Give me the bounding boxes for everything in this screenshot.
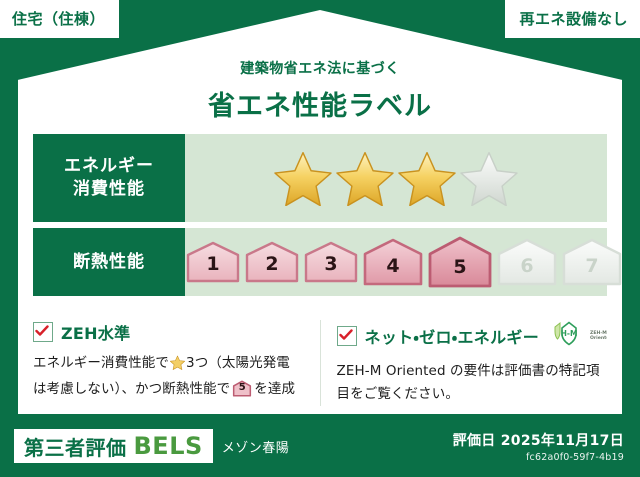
info-nze-body: ZEH-M Oriented の要件は評価書の特記項目をご覧ください。 [337, 360, 607, 406]
row-energy-consumption: エネルギー 消費性能 [33, 134, 607, 222]
star-rating [185, 134, 607, 222]
info-zeh-standard: ZEH水準 エネルギー消費性能で3つ（太陽光発電 は考慮しない）、かつ断熱性能で… [33, 320, 320, 406]
title-main: 省エネ性能ラベル [0, 84, 640, 123]
house-chip-icon [561, 237, 623, 287]
footer: 第三者評価 BELS メゾン春陽 評価日 2025年11月17日 fc62a0f… [0, 415, 640, 477]
insulation-chip-4: 4 [362, 237, 424, 287]
house-chip-icon [185, 240, 241, 284]
info-zeh-body-part3: を達成 [254, 381, 295, 397]
row-insulation-label-line1: 断熱性能 [73, 251, 145, 274]
row-insulation: 断熱性能 1 2 [33, 228, 607, 296]
renewable-energy-tag-label: 再エネ設備なし [519, 12, 628, 27]
evaluation-id: fc62a0f0-59f7-4b19 [453, 452, 624, 463]
info-zeh-body-part2: は考慮しない）、かつ断熱性能で [33, 381, 230, 397]
info-nze-title: ネット・ゼロ・エネルギー [365, 324, 539, 348]
row-energy-label-line1: エネルギー [64, 155, 154, 178]
house-chip-icon [244, 240, 300, 284]
house-chip-icon [496, 237, 558, 287]
inline-chip-label: 5 [232, 379, 252, 396]
page-title: 建築物省エネ法に基づく 省エネ性能ラベル [0, 58, 640, 123]
inline-star-icon [170, 355, 185, 378]
star-empty-4 [460, 150, 518, 206]
row-energy-label-line2: 消費性能 [73, 178, 145, 201]
building-name: メゾン春陽 [222, 437, 290, 456]
star-filled-2 [336, 150, 394, 206]
check-icon [35, 324, 49, 338]
star-filled-3 [398, 150, 456, 206]
building-type-tag: 住宅（住棟） [0, 0, 119, 38]
energy-performance-label: 住宅（住棟） 再エネ設備なし 建築物省エネ法に基づく 省エネ性能ラベル エネルギ… [0, 0, 640, 477]
row-energy-consumption-label: エネルギー 消費性能 [33, 134, 185, 222]
checkbox-net-zero-energy[interactable] [337, 326, 357, 346]
bels-en-label: BELS [134, 432, 203, 460]
row-insulation-label: 断熱性能 [33, 228, 185, 296]
title-subtitle: 建築物省エネ法に基づく [0, 58, 640, 78]
bels-jp-label: 第三者評価 [24, 432, 127, 461]
insulation-chip-6: 6 [496, 237, 558, 287]
check-icon [339, 328, 353, 342]
info-sections: ZEH水準 エネルギー消費性能で3つ（太陽光発電 は考慮しない）、かつ断熱性能で… [33, 320, 607, 406]
zeh-logo-sub2: Oriented [590, 335, 607, 341]
insulation-rating: 1 2 3 [185, 228, 623, 296]
insulation-chip-1: 1 [185, 240, 241, 284]
info-zeh-body-stars: 3つ（太陽光発電 [186, 355, 290, 371]
building-type-tag-label: 住宅（住棟） [12, 12, 105, 27]
insulation-chip-3: 3 [303, 240, 359, 284]
star-filled-1 [274, 150, 332, 206]
info-zeh-body-part1: エネルギー消費性能で [33, 355, 169, 371]
info-zeh-title: ZEH水準 [61, 320, 130, 344]
info-zeh-body: エネルギー消費性能で3つ（太陽光発電 は考慮しない）、かつ断熱性能で5を達成 [33, 352, 306, 401]
evaluation-date: 評価日 2025年11月17日 [453, 430, 624, 450]
bels-badge: 第三者評価 BELS [14, 429, 213, 463]
insulation-chip-7: 7 [561, 237, 623, 287]
rating-rows: エネルギー 消費性能 [33, 134, 607, 302]
info-nze-header: ネット・ゼロ・エネルギー H-M ZEH-M Oriented [337, 320, 607, 352]
checkbox-zeh[interactable] [33, 322, 53, 342]
evaluation-info: 評価日 2025年11月17日 fc62a0f0-59f7-4b19 [453, 430, 624, 463]
house-chip-icon [303, 240, 359, 284]
renewable-energy-tag: 再エネ設備なし [505, 0, 640, 38]
zeh-logo-text: H-M [561, 329, 578, 338]
insulation-chip-5: 5 [427, 235, 493, 289]
inline-house-chip-icon: 5 [232, 380, 252, 397]
info-zeh-header: ZEH水準 [33, 320, 306, 344]
house-chip-icon [362, 237, 424, 287]
zeh-m-oriented-logo-icon: H-M ZEH-M Oriented [549, 320, 607, 352]
house-chip-icon [427, 235, 493, 289]
info-net-zero-energy: ネット・ゼロ・エネルギー H-M ZEH-M Oriented ZEH-M Or… [320, 320, 607, 406]
insulation-chip-2: 2 [244, 240, 300, 284]
